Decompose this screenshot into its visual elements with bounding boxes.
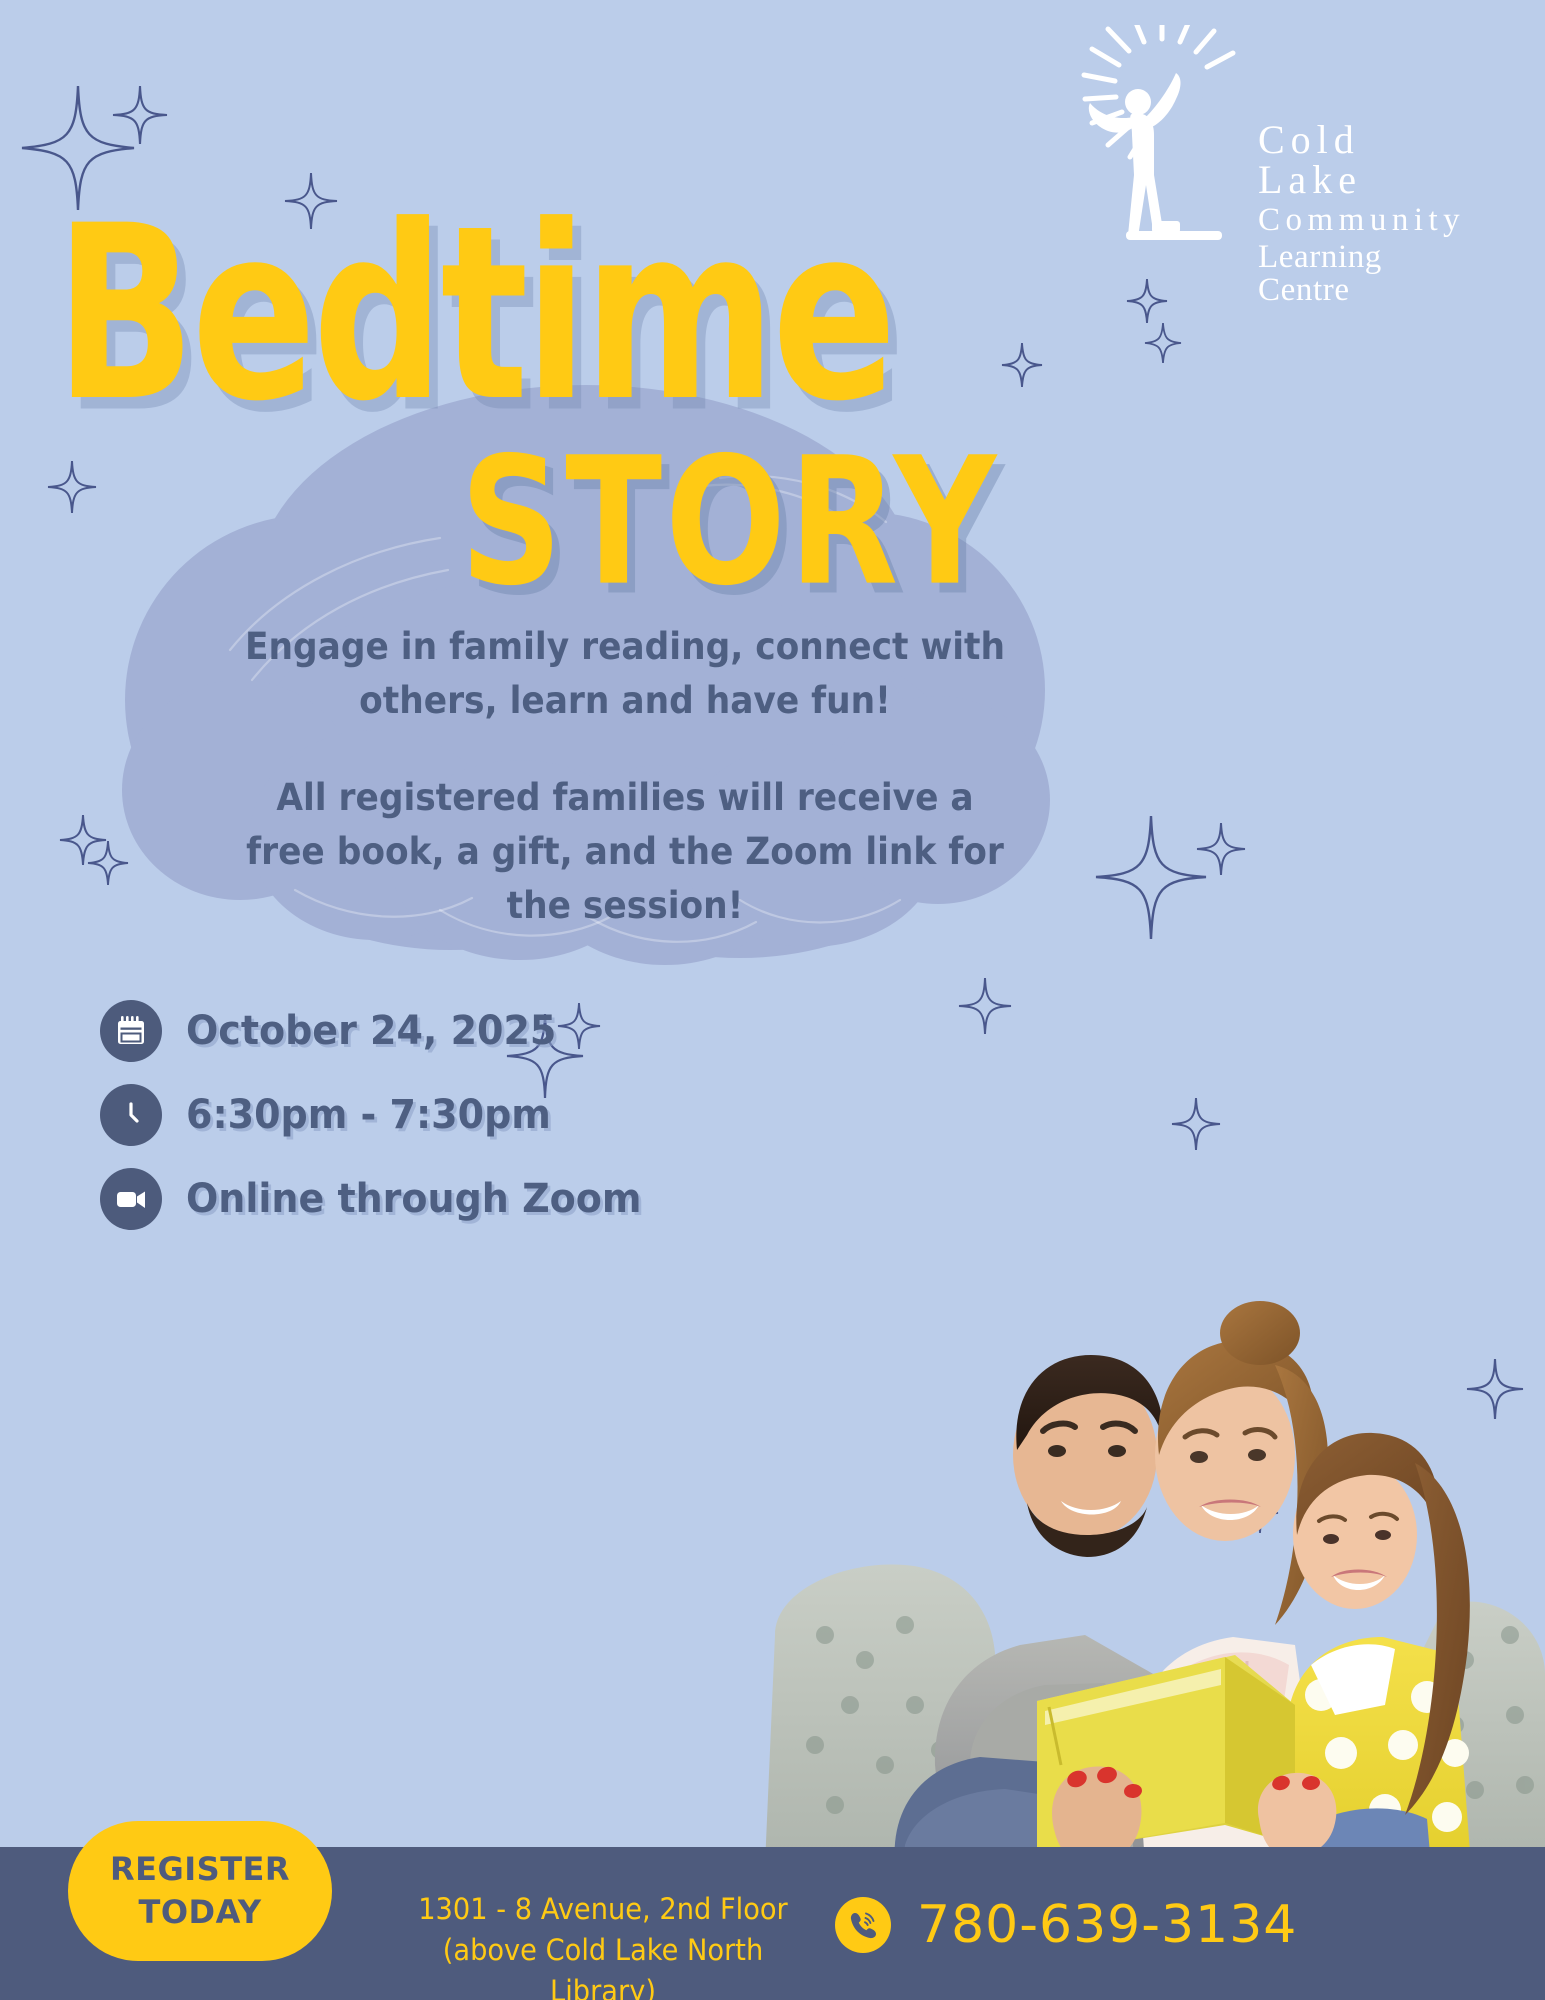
address-line-2: (above Cold Lake North Library) xyxy=(401,1930,805,2000)
title-line-1: Bedtime xyxy=(55,205,893,426)
sparkle-icon xyxy=(1195,820,1247,878)
phone-number: 780-639-3134 xyxy=(917,1895,1297,1955)
detail-text-time: 6:30pm - 7:30pm xyxy=(186,1092,551,1138)
register-today-button[interactable]: REGISTER TODAY xyxy=(68,1821,332,1961)
phone-block[interactable]: 780-639-3134 xyxy=(835,1895,1297,1955)
detail-row-location: Online through Zoom xyxy=(100,1168,740,1230)
address-line-1: 1301 - 8 Avenue, 2nd Floor xyxy=(401,1889,805,1930)
address-block: 1301 - 8 Avenue, 2nd Floor (above Cold L… xyxy=(401,1889,805,2000)
clock-icon xyxy=(100,1084,162,1146)
logo: Cold Lake Community Learning Centre xyxy=(1030,25,1430,250)
logo-text: Cold Lake Community Learning Centre xyxy=(1258,120,1465,307)
logo-line-3: Learning Centre xyxy=(1258,241,1465,307)
detail-row-date: October 24, 2025 xyxy=(100,1000,740,1062)
logo-line-2: Community xyxy=(1258,204,1465,237)
sparkle-icon xyxy=(1143,320,1183,366)
title-line-2: STORY xyxy=(460,440,999,607)
detail-text-date: October 24, 2025 xyxy=(186,1008,556,1054)
body-paragraph-1: Engage in family reading, connect with o… xyxy=(244,620,1007,727)
event-details: October 24, 2025 6:30pm - 7:30pm Online … xyxy=(100,1000,740,1252)
phone-icon xyxy=(835,1897,891,1953)
body-paragraph-2: All registered families will receive a f… xyxy=(244,771,1007,932)
detail-text-location: Online through Zoom xyxy=(186,1176,641,1222)
family-reading-photo xyxy=(755,1205,1545,1865)
video-camera-icon xyxy=(100,1168,162,1230)
sparkle-icon xyxy=(1125,276,1169,326)
sparkle-icon xyxy=(58,812,108,868)
logo-line-1: Cold Lake xyxy=(1258,120,1465,200)
detail-row-time: 6:30pm - 7:30pm xyxy=(100,1084,740,1146)
calendar-icon xyxy=(100,1000,162,1062)
sun-person-logo-icon xyxy=(1030,25,1265,250)
body-copy: Engage in family reading, connect with o… xyxy=(244,620,1007,932)
sparkle-icon xyxy=(110,82,170,148)
poster-canvas: Cold Lake Community Learning Centre Bedt… xyxy=(0,0,1545,2000)
sparkle-icon xyxy=(1170,1095,1222,1153)
sparkle-icon xyxy=(1094,810,1209,945)
register-label-line2: TODAY xyxy=(139,1891,262,1934)
footer-bar: REGISTER TODAY 1301 - 8 Avenue, 2nd Floo… xyxy=(0,1847,1545,2000)
register-label-line1: REGISTER xyxy=(110,1848,290,1891)
sparkle-icon xyxy=(46,458,98,516)
